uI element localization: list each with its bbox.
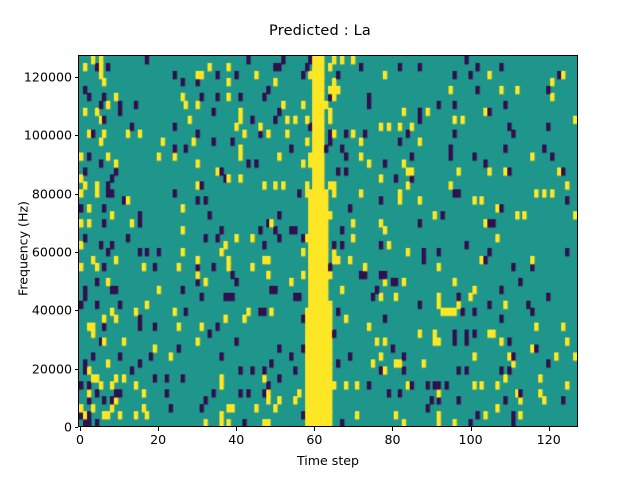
x-tick-label: 60 [306, 432, 322, 447]
x-tick-mark [80, 427, 81, 431]
x-tick-label: 80 [384, 432, 400, 447]
x-tick-mark [314, 427, 315, 431]
y-tick-mark [75, 77, 79, 78]
x-tick-label: 100 [459, 432, 483, 447]
y-tick-mark [75, 252, 79, 253]
y-tick-label: 60000 [32, 244, 72, 259]
x-tick-mark [236, 427, 237, 431]
x-tick-mark [549, 427, 550, 431]
y-tick-label: 120000 [24, 69, 72, 84]
y-tick-label: 20000 [32, 361, 72, 376]
y-tick-label: 0 [64, 420, 72, 435]
x-axis-label: Time step [78, 453, 578, 468]
x-tick-label: 0 [76, 432, 84, 447]
x-tick-mark [471, 427, 472, 431]
y-tick-mark [75, 135, 79, 136]
heatmap-axes [78, 55, 578, 427]
x-tick-label: 40 [228, 432, 244, 447]
y-tick-mark [75, 194, 79, 195]
y-tick-label: 80000 [32, 186, 72, 201]
x-tick-mark [158, 427, 159, 431]
y-axis-label: Frequency (Hz) [16, 179, 31, 319]
y-tick-label: 100000 [24, 128, 72, 143]
heatmap-image [79, 56, 577, 426]
x-tick-label: 20 [150, 432, 166, 447]
y-tick-mark [75, 310, 79, 311]
y-tick-mark [75, 427, 79, 428]
x-tick-label: 120 [537, 432, 561, 447]
chart-title: Predicted : La [0, 23, 640, 39]
x-tick-mark [392, 427, 393, 431]
y-tick-label: 40000 [32, 303, 72, 318]
y-tick-mark [75, 369, 79, 370]
figure-canvas: Predicted : La 020406080100120 020000400… [0, 0, 640, 480]
